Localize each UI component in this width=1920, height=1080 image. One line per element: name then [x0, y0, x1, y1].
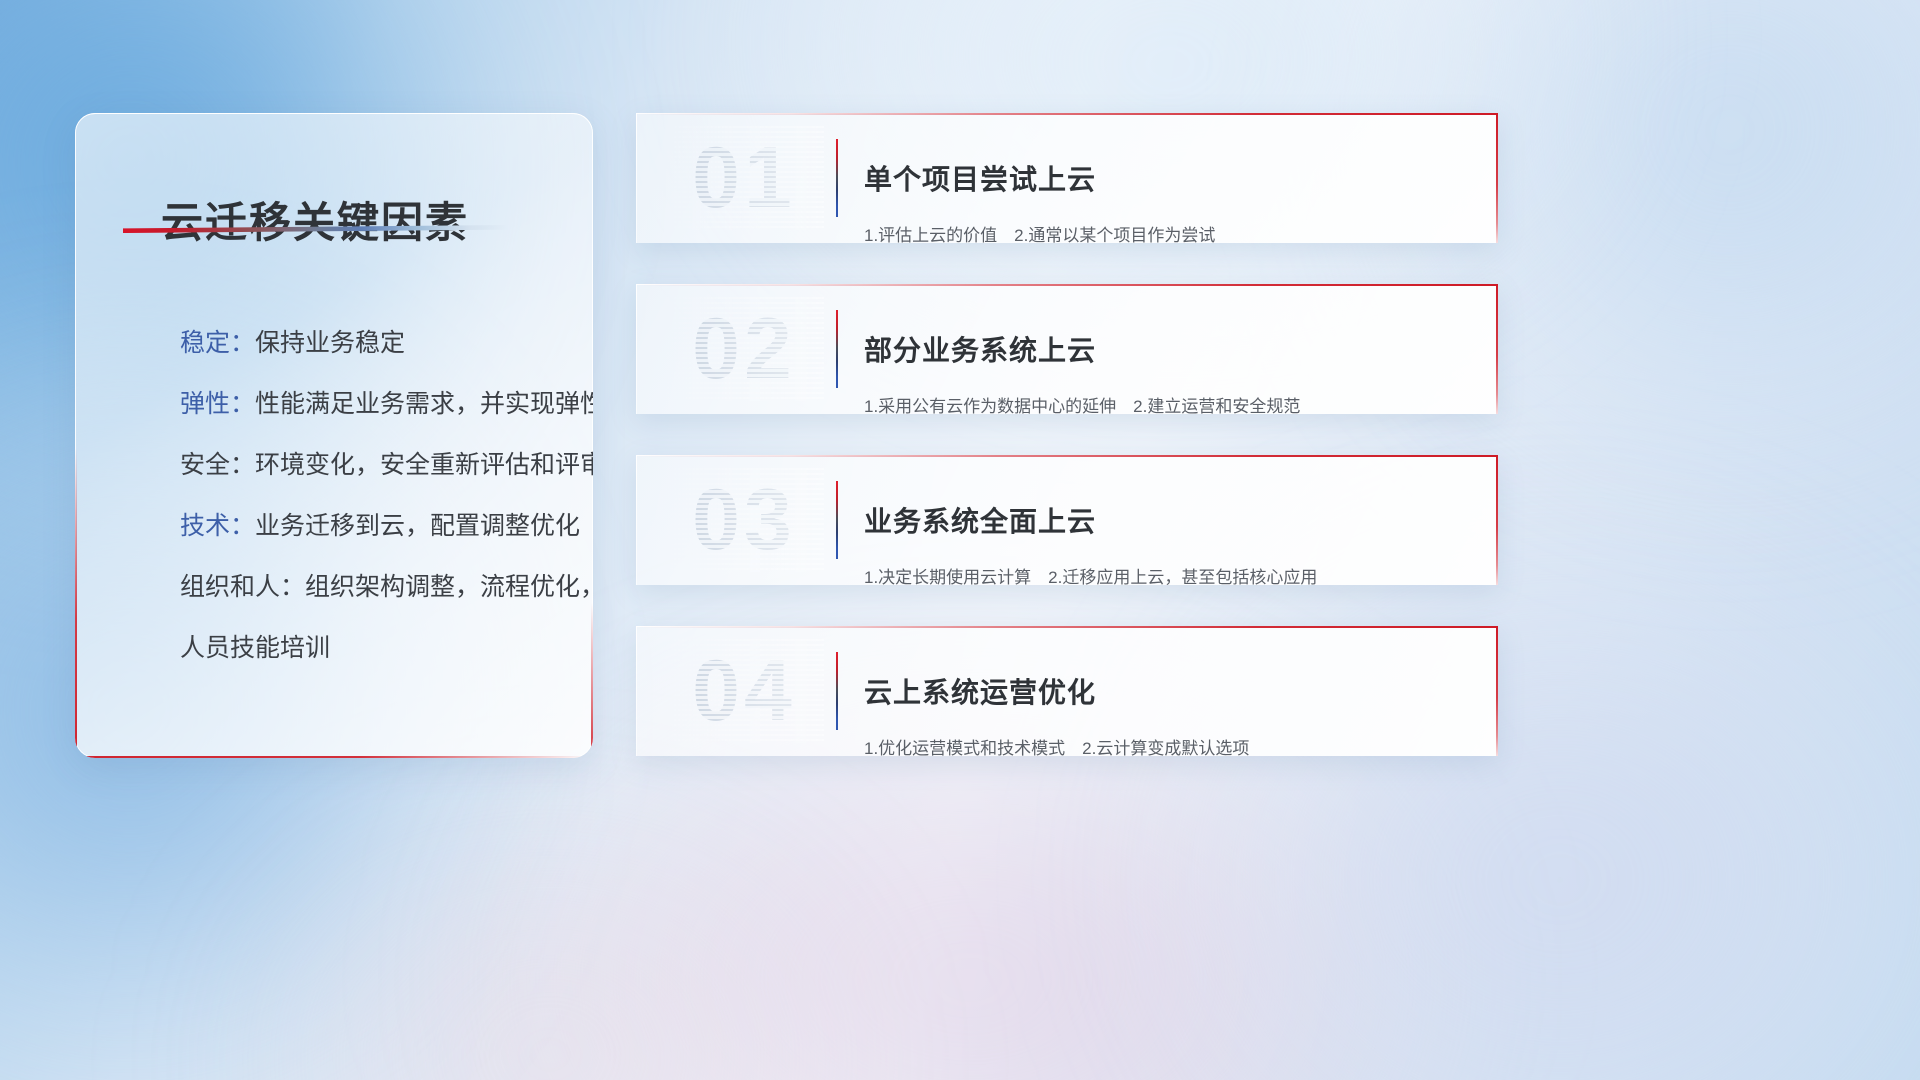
card-body: 单个项目尝试上云 1.评估上云的价值 2.通常以某个项目作为尝试	[864, 137, 1458, 243]
card-number: 04	[664, 639, 824, 743]
list-item-label: 技术：	[180, 512, 255, 540]
list-item-label: 稳定：	[180, 329, 255, 357]
stage-card-03[interactable]: 03 业务系统全面上云 1.决定长期使用云计算 2.迁移应用上云，甚至包括核心应…	[636, 455, 1498, 585]
key-factors-panel: 云迁移关键因素 稳定：保持业务稳定 弹性：性能满足业务需求，并实现弹性 安全：环…	[75, 113, 593, 758]
card-accent-top-edge	[636, 113, 1498, 115]
card-highlight-left-edge	[636, 113, 637, 243]
key-factors-list: 稳定：保持业务稳定 弹性：性能满足业务需求，并实现弹性 安全：环境变化，安全重新…	[180, 313, 565, 679]
stage-card-02[interactable]: 02 部分业务系统上云 1.采用公有云作为数据中心的延伸 2.建立运营和安全规范	[636, 284, 1498, 414]
panel-title-underline	[123, 225, 508, 233]
card-description: 1.决定长期使用云计算 2.迁移应用上云，甚至包括核心应用	[864, 565, 1458, 585]
card-accent-top-edge	[636, 626, 1498, 628]
card-description: 1.评估上云的价值 2.通常以某个项目作为尝试	[864, 223, 1458, 243]
card-number: 01	[664, 126, 824, 230]
card-accent-right-edge	[1496, 455, 1498, 585]
stage-cards-list: 01 单个项目尝试上云 1.评估上云的价值 2.通常以某个项目作为尝试 02 部…	[636, 113, 1498, 756]
list-item-value: 性能满足业务需求，并实现弹性	[255, 390, 593, 418]
card-title: 部分业务系统上云	[864, 331, 1458, 371]
list-item: 弹性：性能满足业务需求，并实现弹性	[180, 374, 565, 435]
card-title: 单个项目尝试上云	[864, 160, 1458, 200]
list-item-label: 组织和人：	[180, 573, 305, 601]
card-divider-bar	[836, 652, 838, 730]
slide-stage: 云迁移关键因素 稳定：保持业务稳定 弹性：性能满足业务需求，并实现弹性 安全：环…	[0, 0, 1920, 1080]
stage-card-04[interactable]: 04 云上系统运营优化 1.优化运营模式和技术模式 2.云计算变成默认选项	[636, 626, 1498, 756]
card-title: 云上系统运营优化	[864, 673, 1458, 713]
card-body: 业务系统全面上云 1.决定长期使用云计算 2.迁移应用上云，甚至包括核心应用	[864, 479, 1458, 585]
card-accent-right-edge	[1496, 113, 1498, 243]
list-item: 组织和人：组织架构调整，流程优化，	[180, 557, 565, 618]
card-accent-right-edge	[1496, 284, 1498, 414]
card-body: 云上系统运营优化 1.优化运营模式和技术模式 2.云计算变成默认选项	[864, 650, 1458, 756]
card-divider-bar	[836, 481, 838, 559]
list-item: 技术：业务迁移到云，配置调整优化	[180, 496, 565, 557]
card-accent-top-edge	[636, 455, 1498, 457]
card-accent-top-edge	[636, 284, 1498, 286]
list-item-continuation: 人员技能培训	[180, 618, 565, 679]
card-highlight-left-edge	[636, 626, 637, 756]
card-number: 03	[664, 468, 824, 572]
panel-accent-left-edge	[75, 448, 77, 758]
list-item-label: 弹性：	[180, 390, 255, 418]
list-item-label: 安全：	[180, 451, 255, 479]
card-divider-bar	[836, 139, 838, 217]
card-highlight-left-edge	[636, 455, 637, 585]
card-accent-right-edge	[1496, 626, 1498, 756]
card-highlight-left-edge	[636, 284, 637, 414]
panel-accent-bottom-edge	[75, 756, 593, 758]
card-divider-bar	[836, 310, 838, 388]
list-item-value: 组织架构调整，流程优化，	[305, 573, 593, 601]
list-item-value: 保持业务稳定	[255, 329, 405, 357]
list-item: 安全：环境变化，安全重新评估和评审	[180, 435, 565, 496]
card-number: 02	[664, 297, 824, 401]
card-description: 1.采用公有云作为数据中心的延伸 2.建立运营和安全规范	[864, 394, 1458, 414]
list-item-value: 业务迁移到云，配置调整优化	[255, 512, 580, 540]
list-item: 稳定：保持业务稳定	[180, 313, 565, 374]
panel-accent-right-edge	[591, 603, 593, 758]
panel-title-underline-gradient	[123, 225, 508, 233]
card-body: 部分业务系统上云 1.采用公有云作为数据中心的延伸 2.建立运营和安全规范	[864, 308, 1458, 414]
card-title: 业务系统全面上云	[864, 502, 1458, 542]
list-item-value: 环境变化，安全重新评估和评审	[255, 451, 593, 479]
card-description: 1.优化运营模式和技术模式 2.云计算变成默认选项	[864, 736, 1458, 756]
panel-title: 云迁移关键因素	[161, 189, 469, 250]
stage-card-01[interactable]: 01 单个项目尝试上云 1.评估上云的价值 2.通常以某个项目作为尝试	[636, 113, 1498, 243]
